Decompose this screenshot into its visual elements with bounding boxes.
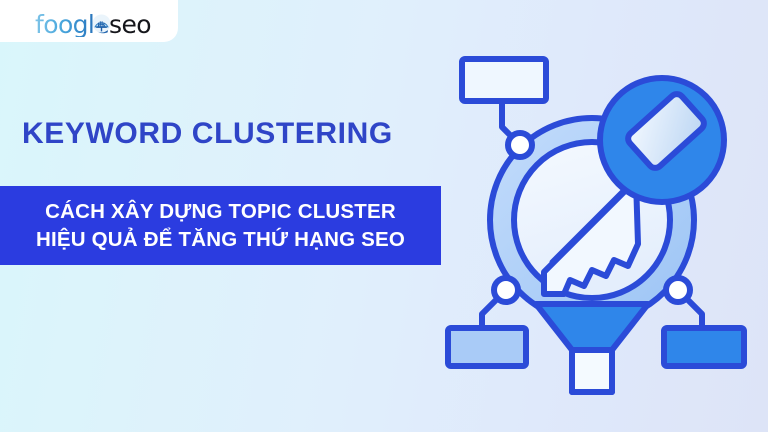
subtitle-banner: CÁCH XÂY DỰNG TOPIC CLUSTER HIỆU QUẢ ĐỂ … xyxy=(0,186,441,265)
logo-badge[interactable]: foogle seo xyxy=(0,0,178,42)
funnel-icon xyxy=(536,304,648,392)
node-top-left xyxy=(508,133,532,157)
keyword-clustering-illustration xyxy=(440,28,768,408)
box-top-left xyxy=(462,59,546,101)
connector-bottom-right xyxy=(688,300,702,328)
page-title: KEYWORD CLUSTERING xyxy=(22,119,393,149)
signal-dome-icon xyxy=(92,14,111,33)
banner-canvas: foogle seo KEYWORD CLUSTERING CÁCH XÂY xyxy=(0,0,768,432)
subtitle-line-1: CÁCH XÂY DỰNG TOPIC CLUSTER xyxy=(45,198,396,225)
box-bottom-right xyxy=(664,328,744,366)
logo-text-seo: seo xyxy=(109,12,151,37)
logo-wordmark: foogle seo xyxy=(35,12,151,37)
box-bottom-left xyxy=(448,328,526,366)
connector-bottom-left xyxy=(482,300,496,328)
subtitle-line-2: HIỆU QUẢ ĐỂ TĂNG THỨ HẠNG SEO xyxy=(36,226,405,253)
